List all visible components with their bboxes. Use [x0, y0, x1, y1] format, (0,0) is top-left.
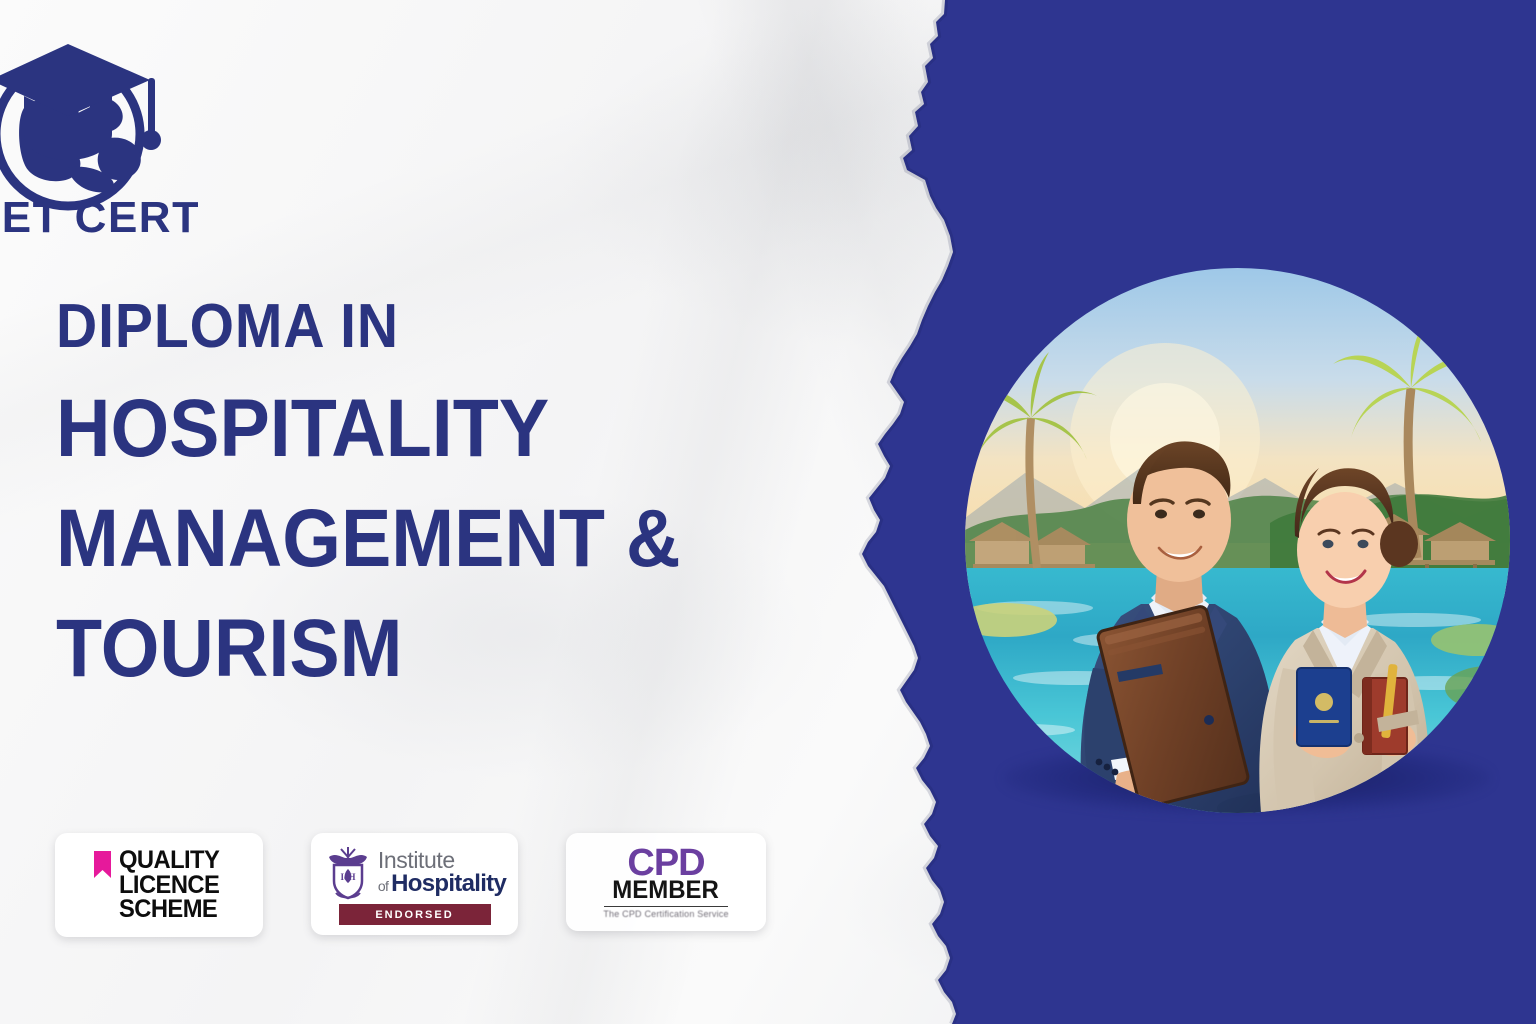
ioh-of-label: of: [378, 879, 388, 893]
qls-line-3: SCHEME: [119, 897, 219, 922]
hospitality-professionals-photo: [965, 268, 1510, 813]
cpd-divider: [604, 906, 728, 907]
badge-quality-licence-scheme[interactable]: QUALITY LICENCE SCHEME: [55, 833, 263, 937]
page-title: DIPLOMA IN HOSPITALITY MANAGEMENT & TOUR…: [56, 296, 776, 690]
headline-line-3: MANAGEMENT &: [56, 498, 718, 580]
get-certify-logo[interactable]: GET CERTIFY: [0, 22, 198, 242]
heraldic-crest-icon: IoH: [323, 843, 373, 901]
svg-text:IoH: IoH: [340, 872, 355, 882]
ioh-institute-label: Institute: [378, 849, 506, 872]
ioh-endorsed-banner: ENDORSED: [339, 904, 491, 925]
qls-line-2: LICENCE: [119, 873, 219, 898]
cpd-caption: The CPD Certification Service: [603, 909, 728, 920]
qls-line-1: QUALITY: [119, 848, 219, 873]
cpd-member-label: MEMBER: [613, 878, 720, 903]
badge-cpd-member[interactable]: CPD MEMBER The CPD Certification Service: [566, 833, 766, 931]
headline-line-1: DIPLOMA IN: [56, 296, 718, 358]
badge-institute-of-hospitality[interactable]: IoH Institute of Hospitality ENDORSED: [311, 833, 518, 935]
headline-line-4: TOURISM: [56, 608, 718, 690]
accreditation-badges: QUALITY LICENCE SCHEME IoH: [55, 833, 766, 937]
ioh-hospitality-label: Hospitality: [391, 872, 506, 896]
headline-line-2: HOSPITALITY: [56, 388, 718, 470]
course-promo-banner: GET CERTIFY DIPLOMA IN HOSPITALITY MANAG…: [0, 0, 1536, 1024]
bookmark-icon: [94, 851, 111, 878]
logo-wordmark: GET CERTIFY: [0, 193, 198, 242]
